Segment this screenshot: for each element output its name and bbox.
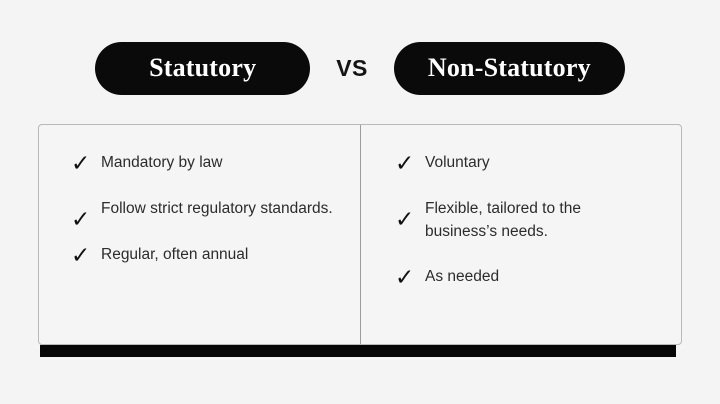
list-item: ✓ Follow strict regulatory standards.: [71, 197, 342, 221]
list-item: ✓ Voluntary: [395, 151, 667, 175]
list-item-label: Regular, often annual: [101, 243, 248, 266]
comparison-infographic: Statutory VS Non-Statutory ✓ Mandatory b…: [0, 0, 720, 404]
check-icon: ✓: [395, 208, 425, 232]
check-icon: ✓: [395, 152, 425, 176]
list-item: ✓ As needed: [395, 265, 667, 289]
header-row: Statutory VS Non-Statutory: [0, 41, 720, 95]
bottom-accent-bar: [40, 345, 676, 357]
check-icon: ✓: [395, 266, 425, 290]
check-icon: ✓: [71, 208, 101, 232]
statutory-pill-label: Statutory: [149, 53, 256, 83]
check-icon: ✓: [71, 152, 101, 176]
check-icon: ✓: [71, 244, 101, 268]
statutory-pill: Statutory: [95, 42, 310, 95]
list-item: ✓ Flexible, tailored to the business’s n…: [395, 197, 667, 243]
list-item-label: As needed: [425, 265, 499, 288]
list-item-label: Flexible, tailored to the business’s nee…: [425, 197, 653, 243]
non-statutory-pill-label: Non-Statutory: [428, 53, 591, 83]
comparison-card: ✓ Mandatory by law ✓ Follow strict regul…: [38, 124, 682, 345]
column-statutory: ✓ Mandatory by law ✓ Follow strict regul…: [39, 125, 360, 344]
vs-separator-label: VS: [336, 57, 368, 80]
column-non-statutory: ✓ Voluntary ✓ Flexible, tailored to the …: [360, 125, 681, 344]
list-item-label: Mandatory by law: [101, 151, 222, 174]
list-item-label: Follow strict regulatory standards.: [101, 197, 333, 220]
list-item-label: Voluntary: [425, 151, 490, 174]
list-item: ✓ Mandatory by law: [71, 151, 342, 175]
list-item: ✓ Regular, often annual: [71, 243, 342, 267]
non-statutory-pill: Non-Statutory: [394, 42, 625, 95]
